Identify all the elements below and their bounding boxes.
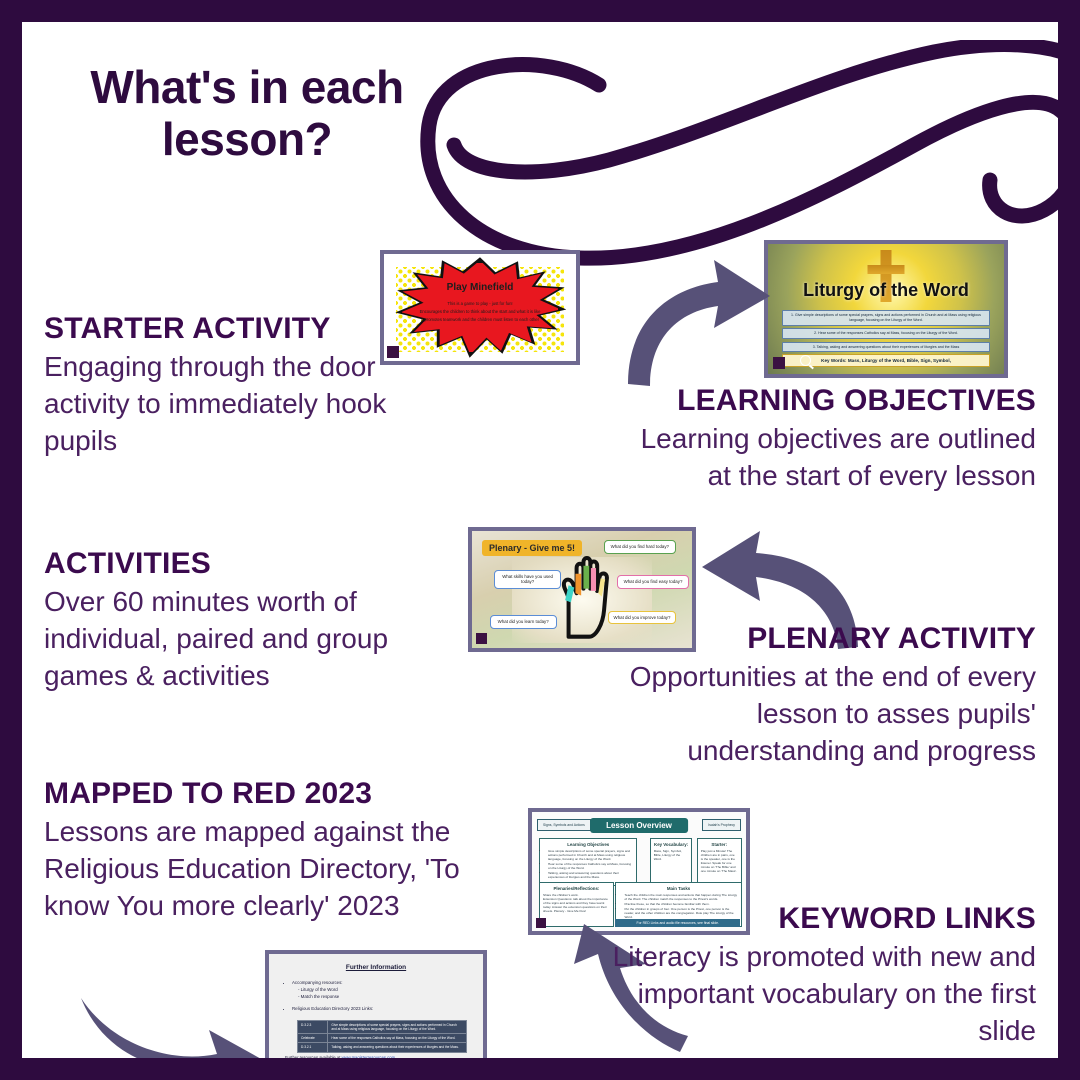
table-cell-code: D.3.2.1 (298, 1043, 328, 1052)
section-heading: Key Vocabulary: (654, 842, 689, 847)
table-cell-code: Celebrate (298, 1034, 328, 1043)
section-heading: Learning Objectives (543, 842, 633, 847)
section-heading: ACTIVITIES (44, 547, 464, 580)
overview-lo-list: Give simple descriptions of some special… (543, 849, 633, 880)
list-item: 2. Hear some of the responses Catholics … (782, 328, 990, 339)
section-body: Learning objectives are outlined at the … (616, 421, 1036, 495)
overview-chip-right: Isaiah's Prophecy (702, 819, 741, 831)
table-row: D.3.2.1 Talking, asking and answering qu… (298, 1043, 467, 1052)
further-footer-prefix: Further resources available at (285, 1055, 342, 1060)
section-body: Lessons are mapped against the Religious… (44, 814, 484, 925)
section-body: Literacy is promoted with new and import… (586, 939, 1036, 1050)
brand-logo (476, 633, 487, 644)
section-heading: PLENARY ACTIVITY (616, 622, 1036, 655)
table-cell-text: Talking, asking and answering questions … (328, 1043, 467, 1052)
list-item: 1. Give simple descriptions of some spec… (782, 310, 990, 326)
brand-logo (536, 918, 546, 928)
speech-bubble: What did you learn today? (490, 615, 557, 629)
red-links-table-wrapper: D.3.2.3 Give simple descriptions of some… (297, 1020, 467, 1053)
further-accompanying-list: Accompanying resources: - Liturgy of the… (285, 980, 467, 1013)
accompanying-label: Accompanying resources: (292, 980, 343, 985)
accompanying-sublist: - Liturgy of the Word - Match the respon… (292, 987, 467, 1001)
section-plenary-activity: PLENARY ACTIVITY Opportunities at the en… (616, 622, 1036, 770)
overview-starter-text: Play just a Minute! The children are in … (701, 849, 738, 873)
list-item: Religious Education Directory 2023 Links… (292, 1006, 467, 1013)
minefield-title: Play Minefield (384, 282, 576, 293)
brand-logo (773, 357, 785, 369)
list-item: - Match the response (298, 994, 467, 1001)
table-cell-text: Give simple descriptions of some special… (328, 1021, 467, 1034)
section-keyword-links: KEYWORD LINKS Literacy is promoted with … (586, 902, 1036, 1050)
further-resources-link[interactable]: www.magisterresources.com (342, 1055, 396, 1060)
brand-logo (273, 1059, 284, 1070)
list-item: 3. Talking, asking and answering questio… (782, 342, 990, 353)
liturgy-key-words: Key Words: Mass, Liturgy of the Word, Bi… (782, 354, 990, 367)
table-cell-text: Hear some of the responses Catholics say… (328, 1034, 467, 1043)
infographic-poster: What's in each lesson? Play Minefield Th… (0, 0, 1080, 1080)
section-heading: Starter: (701, 842, 738, 847)
poster-canvas: What's in each lesson? Play Minefield Th… (22, 22, 1058, 1058)
list-item: Give simple descriptions of some special… (548, 849, 633, 861)
section-body: Engaging through the door activity to im… (44, 349, 464, 460)
arrow-starter-to-objectives-icon (610, 254, 775, 389)
table-cell-code: D.3.2.3 (298, 1021, 328, 1034)
magnifier-icon (800, 355, 811, 366)
section-body: Over 60 minutes worth of individual, pai… (44, 584, 464, 695)
table-row: D.3.2.3 Give simple descriptions of some… (298, 1021, 467, 1034)
list-item: Hear some of the responses Catholics say… (548, 862, 633, 870)
list-item: - Liturgy of the Word (298, 987, 467, 994)
section-heading: KEYWORD LINKS (586, 902, 1036, 935)
hand-icon (556, 547, 613, 641)
speech-bubble: What skills have you used today? (494, 570, 561, 589)
page-title: What's in each lesson? (82, 62, 412, 165)
speech-bubble: What did you find easy today? (617, 575, 689, 589)
section-mapped-to-red: MAPPED TO RED 2023 Lessons are mapped ag… (44, 777, 484, 925)
list-item: Accompanying resources: - Liturgy of the… (292, 980, 467, 1000)
section-heading: Plenaries/Reflections: (543, 886, 610, 891)
section-heading: LEARNING OBJECTIVES (616, 384, 1036, 417)
section-learning-objectives: LEARNING OBJECTIVES Learning objectives … (616, 384, 1036, 495)
red-links-table: D.3.2.3 Give simple descriptions of some… (297, 1020, 467, 1053)
liturgy-title: Liturgy of the Word (768, 280, 1004, 301)
overview-key-vocabulary: Key Vocabulary: Mass, Sign, Symbol, Bibl… (650, 838, 693, 886)
overview-learning-objectives: Learning Objectives Give simple descript… (539, 838, 637, 886)
further-footer: Further resources available at www.magis… (285, 1055, 467, 1060)
further-title: Further Information (269, 964, 483, 971)
speech-bubble: What did you find hard today? (604, 540, 676, 554)
overview-kv-text: Mass, Sign, Symbol, Bible, Liturgy of th… (654, 849, 689, 861)
section-starter-activity: STARTER ACTIVITY Engaging through the do… (44, 312, 464, 460)
table-row: Celebrate Hear some of the responses Cat… (298, 1034, 467, 1043)
liturgy-objectives: 1. Give simple descriptions of some spec… (782, 310, 990, 355)
slide-thumbnail-further-information[interactable]: Further Information Accompanying resourc… (265, 950, 487, 1078)
overview-starter: Starter: Play just a Minute! The childre… (697, 838, 742, 886)
section-activities: ACTIVITIES Over 60 minutes worth of indi… (44, 547, 464, 695)
section-heading: STARTER ACTIVITY (44, 312, 464, 345)
arrow-mapped-to-further-icon (77, 982, 267, 1080)
slide-thumbnail-liturgy[interactable]: Liturgy of the Word 1. Give simple descr… (764, 240, 1008, 378)
list-item: This is a game to play - just for fun! (419, 301, 542, 307)
list-item: Teach the children the main responses an… (624, 893, 737, 901)
section-heading: Main Tasks (619, 886, 737, 891)
section-body: Opportunities at the end of every lesson… (616, 659, 1036, 770)
section-heading: MAPPED TO RED 2023 (44, 777, 484, 810)
overview-chip-left: Signs, Symbols and Actions (537, 819, 591, 831)
overview-title: Lesson Overview (590, 818, 688, 833)
list-item: Talking, asking and answering questions … (548, 871, 633, 879)
